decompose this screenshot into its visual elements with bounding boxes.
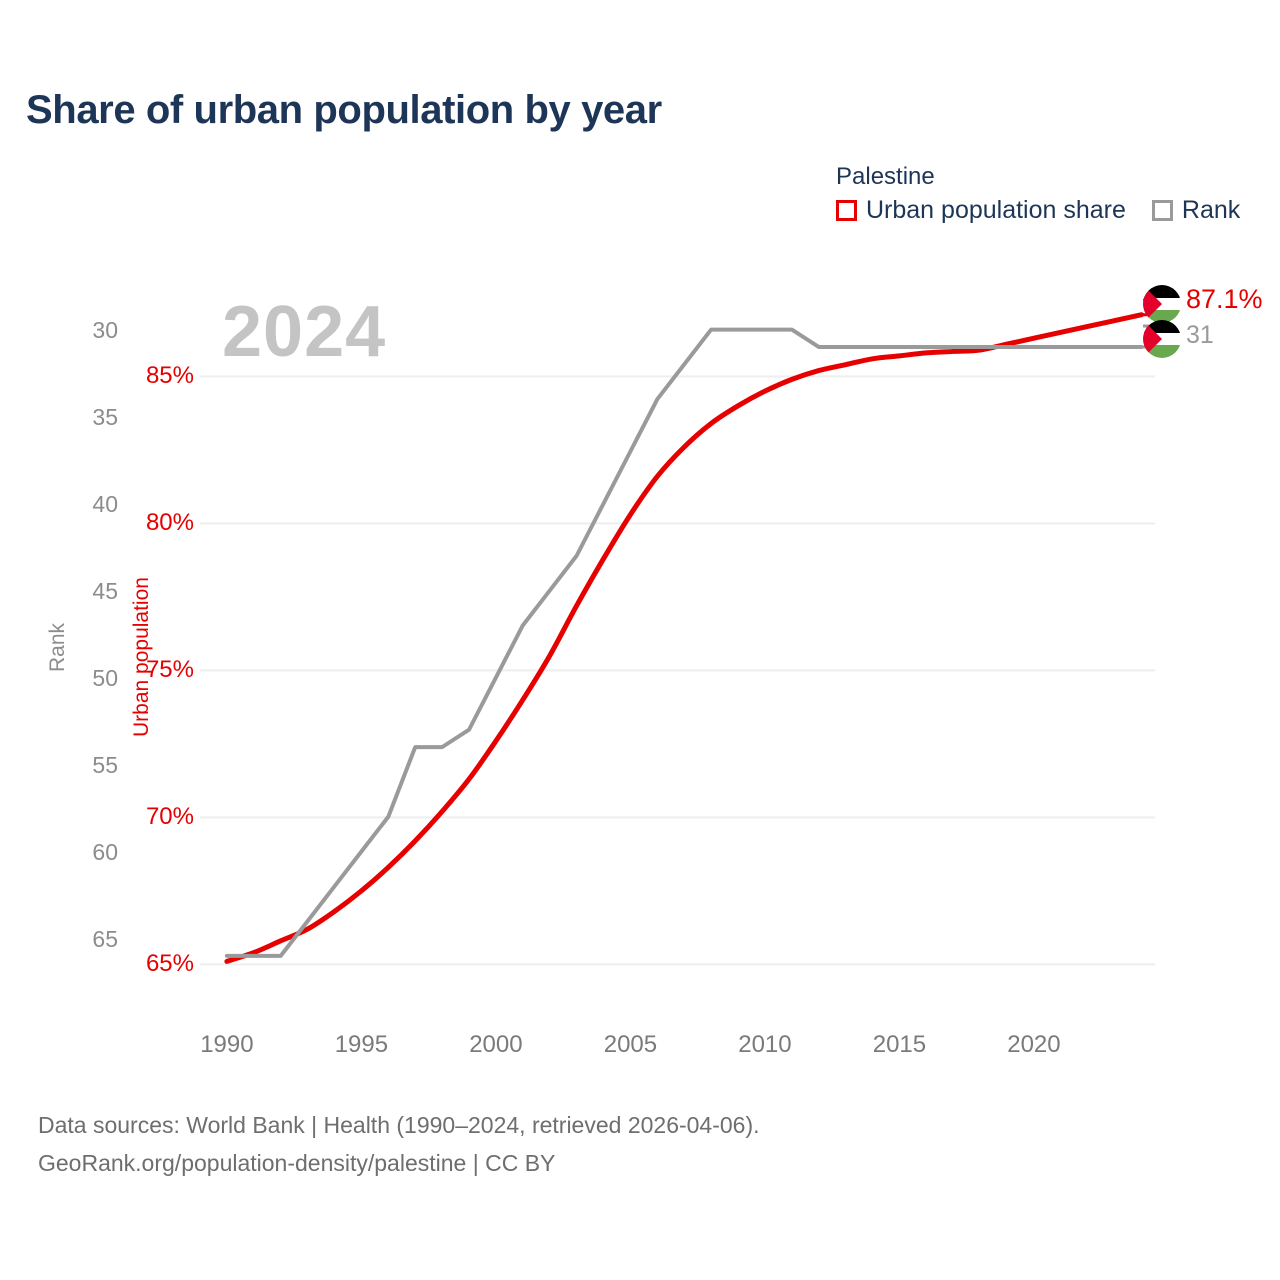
end-label-rank: 31	[1186, 322, 1214, 349]
legend-label-rank: Rank	[1182, 197, 1240, 224]
rank-tick-45: 45	[58, 580, 118, 603]
legend-item-urban-population-share[interactable]: Urban population share	[836, 197, 1126, 224]
urban-axis-title: Urban population	[130, 577, 154, 737]
year-watermark: 2024	[222, 296, 386, 368]
legend-label-urban-population-share: Urban population share	[866, 197, 1126, 224]
x-tick-2005: 2005	[585, 1033, 675, 1056]
flag-triangle-red	[1143, 320, 1162, 358]
x-tick-1995: 1995	[316, 1033, 406, 1056]
footer-line-attribution: GeoRank.org/population-density/palestine…	[38, 1144, 760, 1182]
urban-tick-65pct: 65%	[118, 952, 194, 975]
rank-tick-35: 35	[58, 406, 118, 429]
rank-tick-40: 40	[58, 493, 118, 516]
legend-item-rank[interactable]: Rank	[1152, 197, 1240, 224]
legend: Palestine Urban population share Rank	[836, 163, 1266, 224]
rank-tick-55: 55	[58, 754, 118, 777]
rank-tick-30: 30	[58, 319, 118, 342]
x-tick-2020: 2020	[989, 1033, 1079, 1056]
end-label-urban-share: 87.1%	[1186, 286, 1263, 313]
urban-tick-70pct: 70%	[118, 805, 194, 828]
series-line-urban-population-share	[227, 315, 1142, 962]
flag-triangle-red	[1143, 285, 1162, 323]
legend-swatch-red-icon	[836, 200, 857, 221]
legend-entries: Urban population share Rank	[836, 197, 1266, 224]
series-lines	[227, 300, 1148, 961]
rank-axis-title: Rank	[46, 623, 70, 672]
palestine-flag-icon-rank	[1143, 320, 1181, 358]
x-tick-2010: 2010	[720, 1033, 810, 1056]
rank-tick-65: 65	[58, 928, 118, 951]
x-tick-2015: 2015	[854, 1033, 944, 1056]
rank-tick-60: 60	[58, 841, 118, 864]
legend-swatch-gray-icon	[1152, 200, 1173, 221]
x-tick-2000: 2000	[451, 1033, 541, 1056]
page-title: Share of urban population by year	[26, 88, 662, 133]
legend-title: Palestine	[836, 163, 1266, 191]
urban-tick-85pct: 85%	[118, 364, 194, 387]
footer-line-data-sources: Data sources: World Bank | Health (1990–…	[38, 1106, 760, 1144]
gridlines	[200, 376, 1155, 964]
palestine-flag-icon-urban	[1143, 285, 1181, 323]
footer: Data sources: World Bank | Health (1990–…	[38, 1106, 760, 1182]
chart-root: Share of urban population by year Palest…	[0, 0, 1280, 1280]
x-tick-1990: 1990	[182, 1033, 272, 1056]
urban-tick-80pct: 80%	[118, 511, 194, 534]
series-line-rank	[227, 330, 1142, 956]
